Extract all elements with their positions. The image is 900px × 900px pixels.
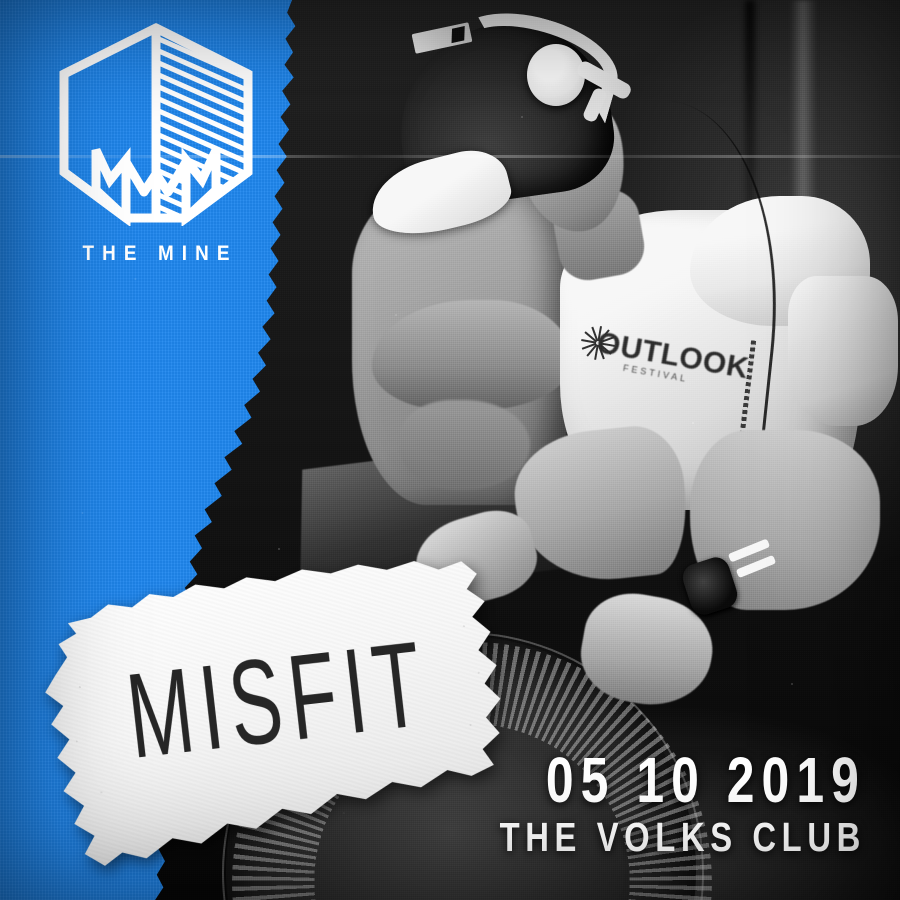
event-poster: OUTLOOK FESTIVAL: [0, 0, 900, 900]
dj-sleeve: [788, 276, 898, 426]
headphone-earcup: [527, 44, 585, 106]
mine-hexagon-logo-icon: [56, 22, 256, 226]
brand-name: THE MINE: [66, 242, 246, 266]
brand-logo[interactable]: THE MINE: [56, 22, 256, 266]
event-venue: THE VOLKS CLUB: [494, 817, 866, 858]
background-person-hand: [400, 400, 530, 490]
event-details: 05 10 2019 THE VOLKS CLUB: [401, 750, 866, 858]
event-date: 05 10 2019: [503, 750, 866, 811]
